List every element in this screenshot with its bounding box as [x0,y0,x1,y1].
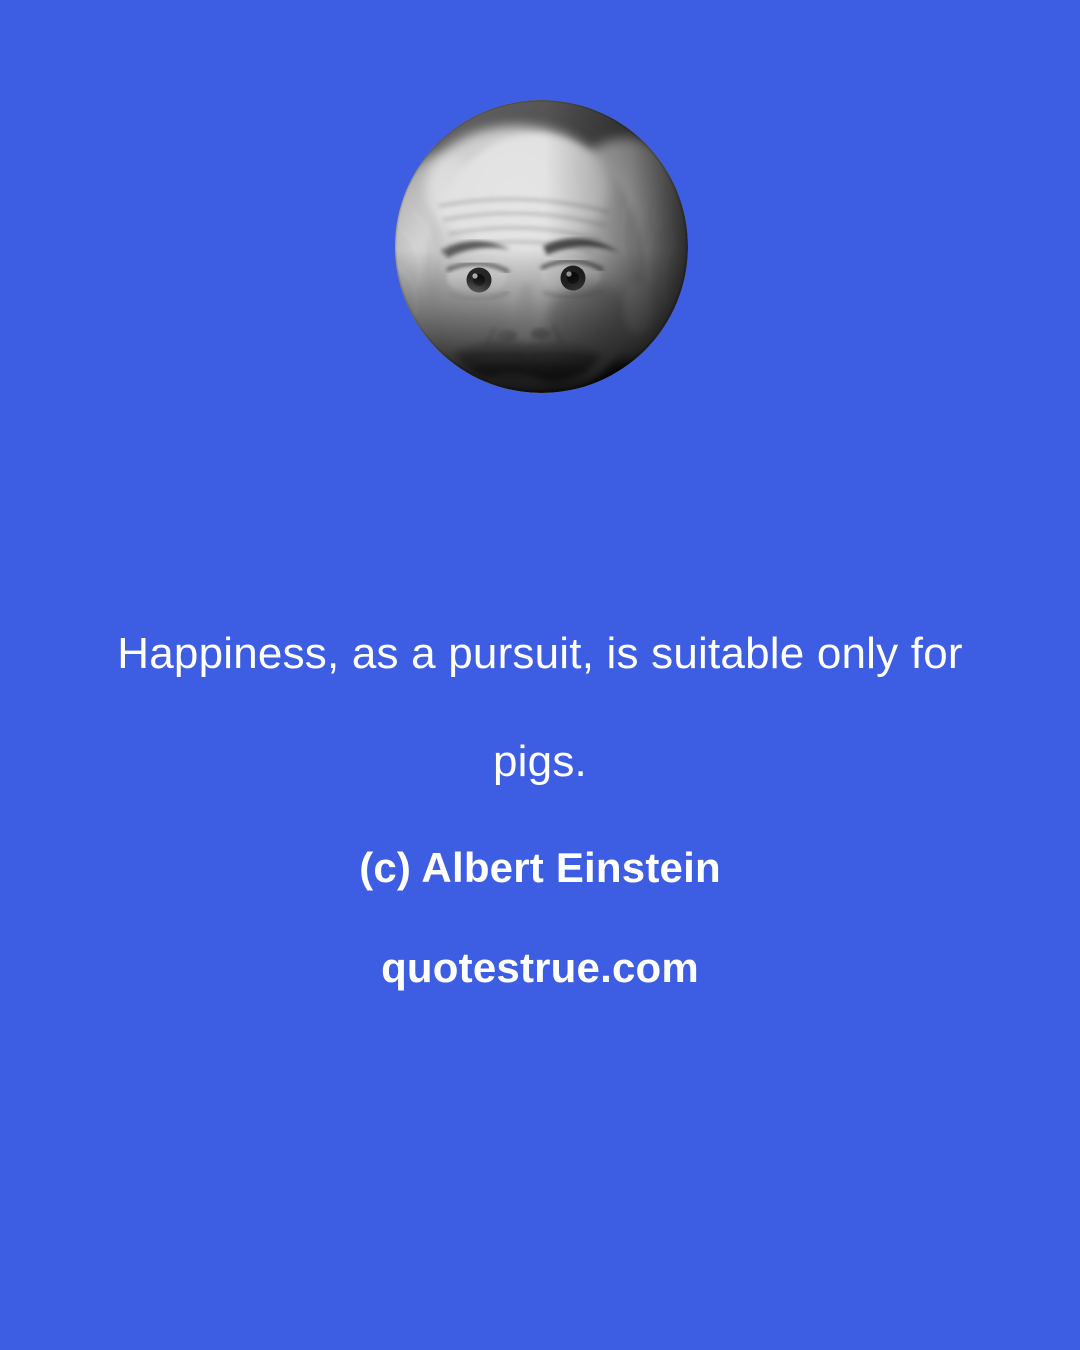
quote-attribution: (c) Albert Einstein [0,816,1080,896]
portrait-container [395,100,688,393]
quote-card: Happiness, as a pursuit, is suitable onl… [0,0,1080,1350]
albert-einstein-portrait-photo [395,100,688,393]
site-watermark: quotestrue.com [0,896,1080,996]
quote-text-block: Happiness, as a pursuit, is suitable onl… [0,600,1080,996]
quote-text: Happiness, as a pursuit, is suitable onl… [0,600,1080,816]
